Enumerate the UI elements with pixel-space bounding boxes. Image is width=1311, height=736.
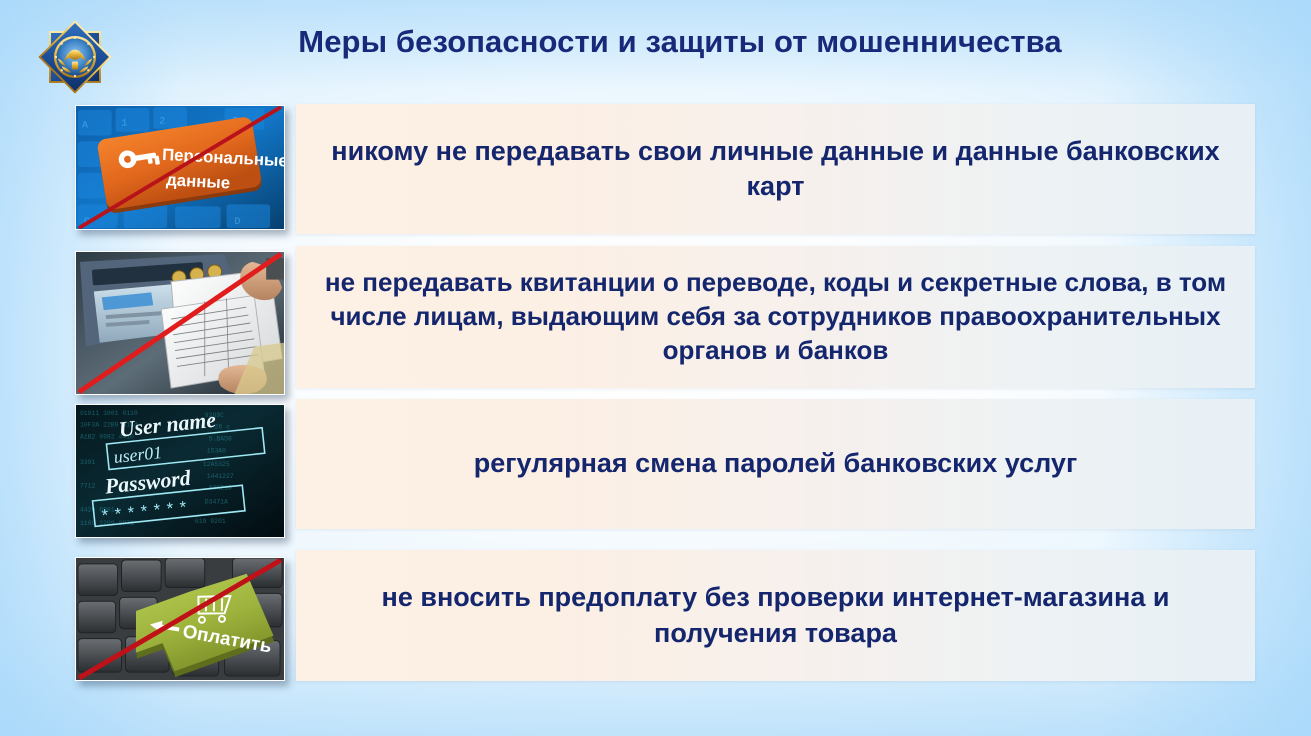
tip-text-2: не передавать квитанции о переводе, коды…: [322, 266, 1229, 367]
login-password-screen-photo: 01011 1001 0110 10F3A 22B9 01C4 A1B2 998…: [75, 404, 285, 538]
slide-canvas: Меры безопасности и защиты от мошенничес…: [0, 0, 1311, 736]
svg-text:1: 1: [122, 118, 128, 129]
svg-text:D: D: [234, 216, 240, 227]
personal-data-orange-key-photo: A12 BCD П: [75, 105, 285, 230]
svg-text:данные: данные: [166, 170, 231, 192]
tip-text-4: не вносить предоплату без проверки интер…: [322, 580, 1229, 650]
tip-bar-3: регулярная смена паролей банковских услу…: [296, 399, 1255, 529]
page-title: Меры безопасности и защиты от мошенничес…: [150, 24, 1210, 60]
tip-bar-4: не вносить предоплату без проверки интер…: [296, 550, 1255, 681]
svg-text:A: A: [82, 120, 88, 131]
kazakhstan-state-emblem-icon: [36, 18, 114, 96]
tip-text-3: регулярная смена паролей банковских услу…: [322, 446, 1229, 481]
payment-receipts-atm-photo: [75, 251, 285, 395]
tip-text-1: никому не передавать свои личные данные …: [322, 134, 1229, 204]
tip-bar-1: никому не передавать свои личные данные …: [296, 104, 1255, 234]
tip-bar-2: не передавать квитанции о переводе, коды…: [296, 246, 1255, 388]
svg-text:2: 2: [159, 116, 165, 127]
slide-header: Меры безопасности и защиты от мошенничес…: [0, 0, 1311, 96]
pay-green-enter-key-photo: Оплатить: [75, 557, 285, 681]
svg-text:C: C: [84, 216, 90, 227]
